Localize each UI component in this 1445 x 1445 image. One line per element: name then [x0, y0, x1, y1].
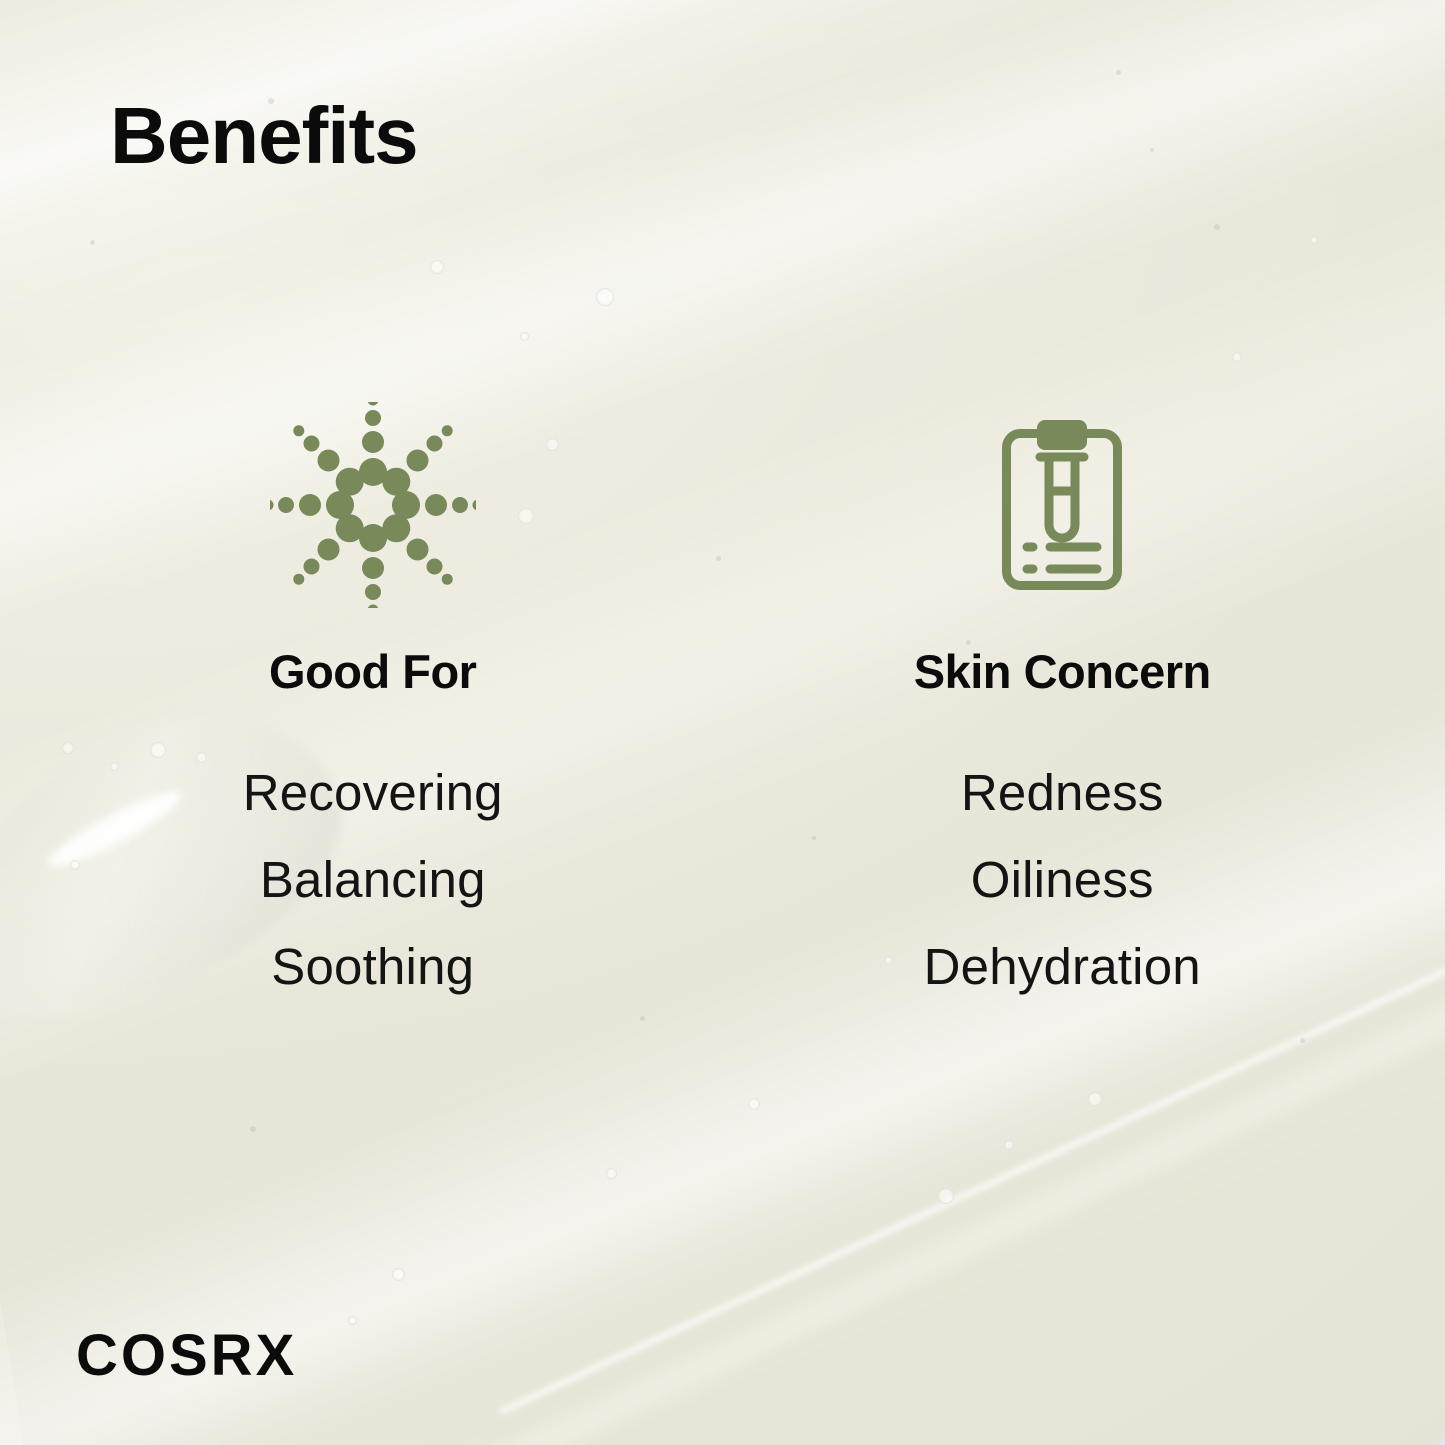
benefit-list-good-for: Recovering Balancing Soothing: [243, 749, 503, 1010]
list-item: Redness: [924, 749, 1201, 836]
benefits-infographic: Benefits: [0, 0, 1445, 1445]
benefit-list-skin-concern: Redness Oiliness Dehydration: [924, 749, 1201, 1010]
benefit-column-good-for: Good For Recovering Balancing Soothing: [28, 390, 718, 1010]
column-heading-good-for: Good For: [269, 648, 476, 695]
icon-slot: [270, 390, 476, 620]
benefit-columns: Good For Recovering Balancing Soothing: [0, 390, 1445, 1010]
list-item: Balancing: [243, 836, 503, 923]
list-item: Recovering: [243, 749, 503, 836]
list-item: Oiliness: [924, 836, 1201, 923]
column-heading-skin-concern: Skin Concern: [914, 648, 1211, 695]
brand-logo-cosrx: COSRX: [76, 1327, 297, 1385]
content-layer: Benefits: [0, 0, 1445, 1445]
sparkle-star-icon: [270, 402, 476, 608]
page-title: Benefits: [110, 96, 418, 176]
list-item: Soothing: [243, 923, 503, 1010]
icon-slot: [1001, 390, 1123, 620]
benefit-column-skin-concern: Skin Concern Redness Oiliness Dehydratio…: [718, 390, 1408, 1010]
list-item: Dehydration: [924, 923, 1201, 1010]
clipboard-test-tube-icon: [1001, 419, 1123, 591]
